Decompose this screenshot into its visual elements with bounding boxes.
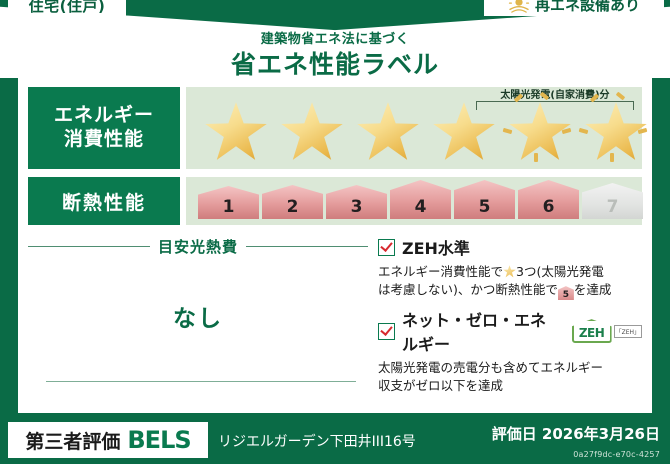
bels-logo: 第三者評価 BELS: [8, 422, 208, 458]
insulation-grade-4: 4: [390, 180, 451, 219]
building-type-tab[interactable]: 住宅(住戸): [8, 0, 126, 16]
energy-stars-area: 太陽光発電(自家消費)分: [186, 87, 642, 169]
criterion-title: ZEH水準: [402, 235, 470, 259]
star-3: [352, 93, 424, 163]
criterion-heading-row: ZEH水準: [378, 235, 642, 259]
footer-bar: 第三者評価 BELS リジエルガーデン下田井III16号 評価日 2026年3月…: [0, 413, 670, 464]
desc-part-a: エネルギー消費性能で: [378, 264, 503, 279]
evaluation-date: 評価日 2026年3月26日: [492, 423, 660, 444]
criterion-net-zero-energy: ネット・ゼロ・エネルギー ZEH 「ZEH」 太陽光発電の売電分も含めてエネルギ…: [378, 307, 642, 395]
cost-heading-row: 目安光熱費: [28, 236, 368, 257]
insulation-performance-row: 断熱性能 1 2 3 4 5: [28, 177, 642, 225]
energy-label-line1: エネルギー: [54, 104, 154, 128]
zeh-house-icon: ZEH: [572, 319, 612, 343]
criterion-heading-row: ネット・ゼロ・エネルギー ZEH 「ZEH」: [378, 307, 642, 355]
star-rating: [200, 93, 652, 163]
energy-label-line2: 消費性能: [64, 128, 144, 152]
star-6-solar: [580, 93, 652, 163]
star-2: [276, 93, 348, 163]
estimated-utility-cost-panel: 目安光熱費 なし: [28, 228, 368, 404]
desc-part-a: 太陽光発電の売電分も含めてエネルギー: [378, 360, 603, 375]
cost-value: なし: [28, 299, 368, 333]
insulation-grade-7: 7: [582, 183, 643, 219]
desc-part-b: (太陽光発電: [536, 264, 603, 279]
grade-number: 5: [479, 199, 491, 219]
building-type-label: 住宅(住戸): [29, 0, 106, 14]
grade-number: 2: [287, 199, 299, 219]
grade-number: 4: [415, 199, 427, 219]
criteria-panel: ZEH水準 エネルギー消費性能で3つ(太陽光発電 は考慮しない)、かつ断熱性能で…: [368, 228, 642, 404]
rule-right: [246, 246, 368, 247]
cost-bottom-rule: [46, 381, 356, 382]
desc-part-c: は考慮しない)、かつ断熱性能で: [378, 282, 558, 297]
grade-number: 3: [351, 199, 363, 219]
energy-performance-label: 建築物省エネ法に基づく 省エネ性能ラベル 住宅(住戸) 再エネ設備あり: [0, 0, 670, 464]
mini-star-icon: [503, 265, 516, 278]
zeh-logo-text: ZEH: [579, 322, 604, 340]
sun-icon: [508, 0, 530, 13]
star-4: [428, 93, 500, 163]
bels-en-label: BELS: [127, 426, 190, 454]
property-name: リジエルガーデン下田井III16号: [218, 431, 416, 451]
checkbox-checked-icon[interactable]: [378, 239, 395, 256]
criterion-zeh-standard: ZEH水準 エネルギー消費性能で3つ(太陽光発電 は考慮しない)、かつ断熱性能で…: [378, 235, 642, 300]
label-card: エネルギー 消費性能 太陽光発電(自家消費)分: [18, 78, 652, 413]
mini-house-grade-icon: 5: [558, 286, 574, 300]
insulation-grade-1: 1: [198, 186, 259, 219]
desc-star-count: 3つ: [516, 264, 536, 279]
desc-part-d: を達成: [574, 282, 612, 297]
insulation-grade-6: 6: [518, 180, 579, 219]
renewable-energy-badge[interactable]: 再エネ設備あり: [484, 0, 664, 16]
star-1: [200, 93, 272, 163]
insulation-grade-2: 2: [262, 185, 323, 219]
insulation-label-box: 断熱性能: [28, 177, 180, 225]
bels-jp-label: 第三者評価: [25, 427, 120, 454]
renewable-badge-label: 再エネ設備あり: [535, 0, 640, 13]
insulation-grade-list: 1 2 3 4 5 6: [198, 180, 643, 219]
checkbox-checked-icon[interactable]: [378, 323, 395, 340]
rule-left: [28, 246, 150, 247]
cost-heading: 目安光熱費: [158, 236, 238, 257]
document-hash: 0a27f9dc-e70c-4257: [573, 450, 660, 459]
zeh-logo: ZEH 「ZEH」: [572, 319, 642, 343]
energy-performance-label-box: エネルギー 消費性能: [28, 87, 180, 169]
energy-performance-row: エネルギー 消費性能 太陽光発電(自家消費)分: [28, 87, 642, 169]
lower-section: 目安光熱費 なし ZEH水準 エネルギー消費性能で3つ(太陽光発電 は考慮しない…: [28, 228, 642, 404]
page-title: 省エネ性能ラベル: [0, 45, 670, 78]
desc-part-b: 収支がゼロ以下を達成: [378, 378, 503, 393]
insulation-grade-3: 3: [326, 185, 387, 219]
insulation-grades-area: 1 2 3 4 5 6: [186, 177, 642, 225]
criterion-title: ネット・ゼロ・エネルギー: [402, 307, 561, 355]
star-5-solar: [504, 93, 576, 163]
grade-number: 6: [543, 199, 555, 219]
grade-number: 1: [223, 199, 235, 219]
grade-number: 7: [607, 199, 619, 219]
zeh-logo-subtext: 「ZEH」: [614, 325, 642, 338]
criterion-description: 太陽光発電の売電分も含めてエネルギー 収支がゼロ以下を達成: [378, 359, 642, 395]
criterion-description: エネルギー消費性能で3つ(太陽光発電 は考慮しない)、かつ断熱性能で5を達成: [378, 263, 642, 300]
insulation-grade-5: 5: [454, 180, 515, 219]
